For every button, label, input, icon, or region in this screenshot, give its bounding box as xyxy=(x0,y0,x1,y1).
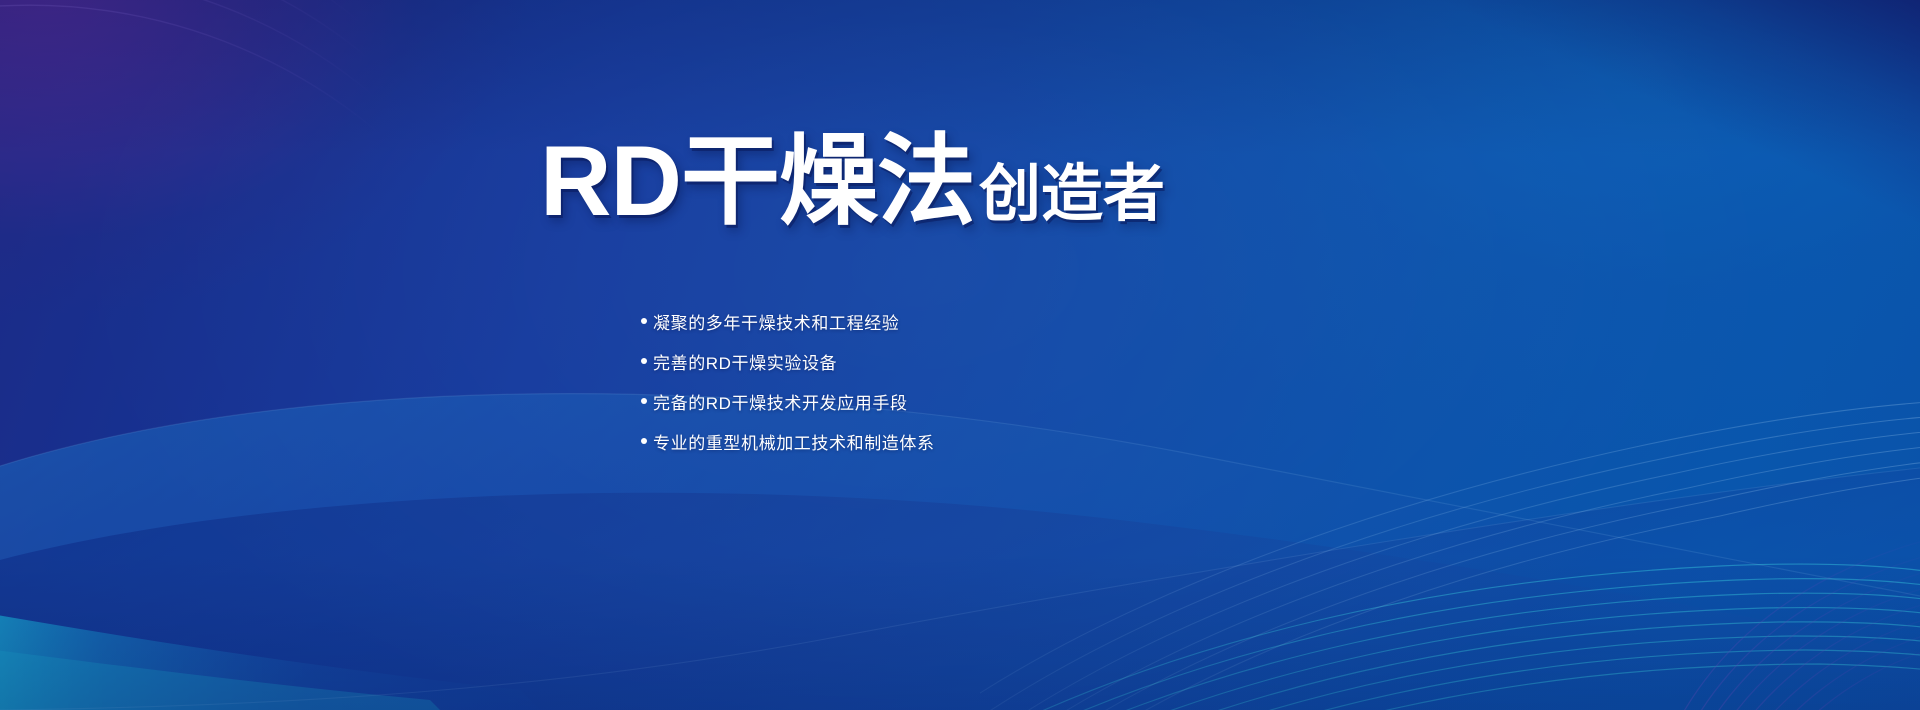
list-item-label: 完备的RD干燥技术开发应用手段 xyxy=(653,389,908,414)
headline-sub-text: 创造者 xyxy=(979,164,1165,226)
bullet-dot-icon xyxy=(641,438,647,444)
list-item-label: 凝聚的多年干燥技术和工程经验 xyxy=(653,309,899,334)
bullet-dot-icon xyxy=(641,398,647,404)
headline-main-text: RD干燥法 xyxy=(540,131,975,230)
bullet-dot-icon xyxy=(641,318,647,324)
feature-bullet-list: 凝聚的多年干燥技术和工程经验 完善的RD干燥实验设备 完备的RD干燥技术开发应用… xyxy=(641,307,935,455)
headline: RD干燥法 创造者 xyxy=(540,131,1165,230)
promo-banner: RD干燥法 创造者 凝聚的多年干燥技术和工程经验 完善的RD干燥实验设备 完备的… xyxy=(0,0,1920,710)
list-item-label: 完善的RD干燥实验设备 xyxy=(653,349,837,374)
banner-content: RD干燥法 创造者 凝聚的多年干燥技术和工程经验 完善的RD干燥实验设备 完备的… xyxy=(0,0,1920,710)
list-item: 完善的RD干燥实验设备 xyxy=(641,347,935,375)
list-item: 凝聚的多年干燥技术和工程经验 xyxy=(641,307,935,335)
bullet-dot-icon xyxy=(641,358,647,364)
list-item: 完备的RD干燥技术开发应用手段 xyxy=(641,387,935,415)
list-item: 专业的重型机械加工技术和制造体系 xyxy=(641,427,935,455)
list-item-label: 专业的重型机械加工技术和制造体系 xyxy=(653,429,935,454)
